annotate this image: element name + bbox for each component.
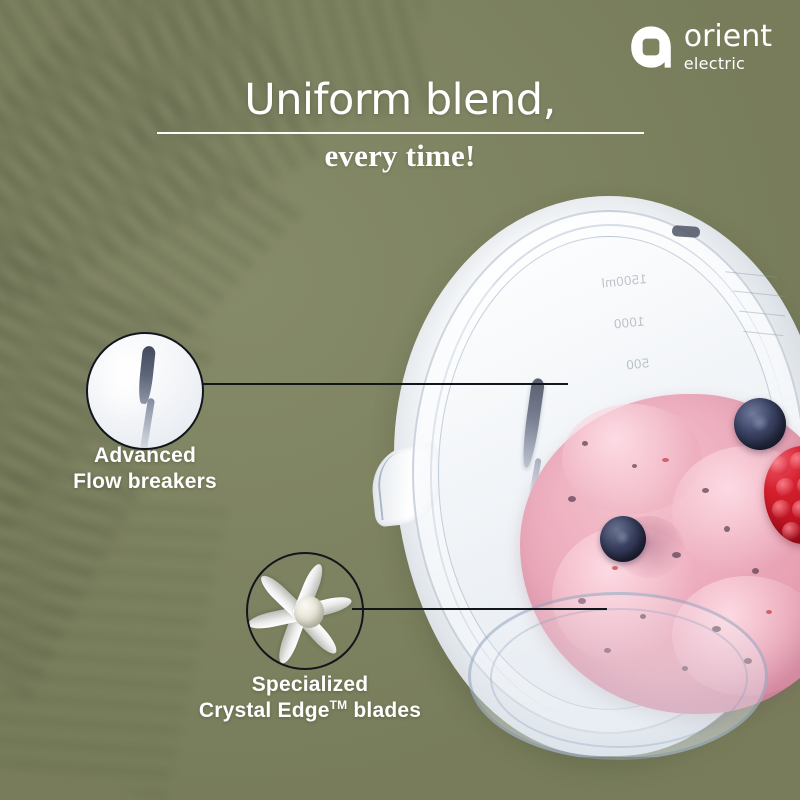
headline-sub: every time! (0, 138, 800, 174)
berry-speck (724, 526, 730, 532)
jar-base-inner-ring (490, 608, 748, 748)
blueberry (600, 516, 646, 562)
callout-label-line2-text: Crystal Edge (199, 699, 330, 722)
callout-blades-closeup (246, 552, 364, 670)
berry-speck (766, 610, 772, 614)
berry-speck (568, 496, 576, 502)
trademark-symbol: TM (330, 698, 348, 712)
promo-banner: orient electric Uniform blend, every tim… (0, 0, 800, 800)
jar-mark: 500 (625, 355, 650, 372)
brand-name: orient (684, 22, 772, 52)
callout-label-line1: Advanced (0, 443, 290, 469)
jar-lid-tab (672, 225, 701, 238)
raspberry-cell (782, 522, 800, 541)
callout-connector-line (352, 608, 607, 610)
raspberry-cell (770, 456, 789, 475)
callout-label-blades: Specialized Crystal EdgeTM blades (110, 672, 510, 725)
jar-mark: 1000 (613, 313, 645, 331)
brand-wordmark: orient electric (684, 22, 772, 72)
callout-connector-line (196, 383, 568, 385)
raspberry-cell (772, 500, 791, 519)
callout-label-line2: Crystal EdgeTM blades (110, 698, 510, 724)
raspberry-cell (776, 478, 795, 497)
headline-main: Uniform blend, (0, 78, 800, 123)
berry-speck (612, 566, 618, 570)
jar-mark: 1500ml (600, 271, 647, 291)
raspberry-cell (790, 452, 800, 471)
berry-speck (672, 552, 681, 558)
raspberry-cell (792, 500, 800, 519)
callout-flow-breakers-closeup (86, 332, 204, 450)
callout-label-line1: Specialized (110, 672, 510, 698)
berry-speck (752, 568, 759, 574)
callout-label-flow-breakers: Advanced Flow breakers (0, 443, 290, 496)
blade-hub-icon (294, 596, 324, 628)
brand-tagline: electric (684, 56, 772, 72)
berry-speck (662, 458, 669, 462)
brand-logo: orient electric (629, 22, 772, 72)
headline-block: Uniform blend, every time! (0, 78, 800, 174)
blueberry (734, 398, 786, 450)
jar-tick (725, 271, 777, 277)
orient-logo-mark-icon (629, 25, 673, 69)
headline-divider (157, 132, 644, 134)
callout-label-line2-suffix: blades (347, 699, 421, 722)
berry-speck (702, 488, 709, 493)
berry-speck (582, 441, 588, 446)
callout-label-line2: Flow breakers (0, 469, 290, 495)
berry-speck (632, 464, 637, 468)
palm-frond-shadow (0, 460, 229, 799)
